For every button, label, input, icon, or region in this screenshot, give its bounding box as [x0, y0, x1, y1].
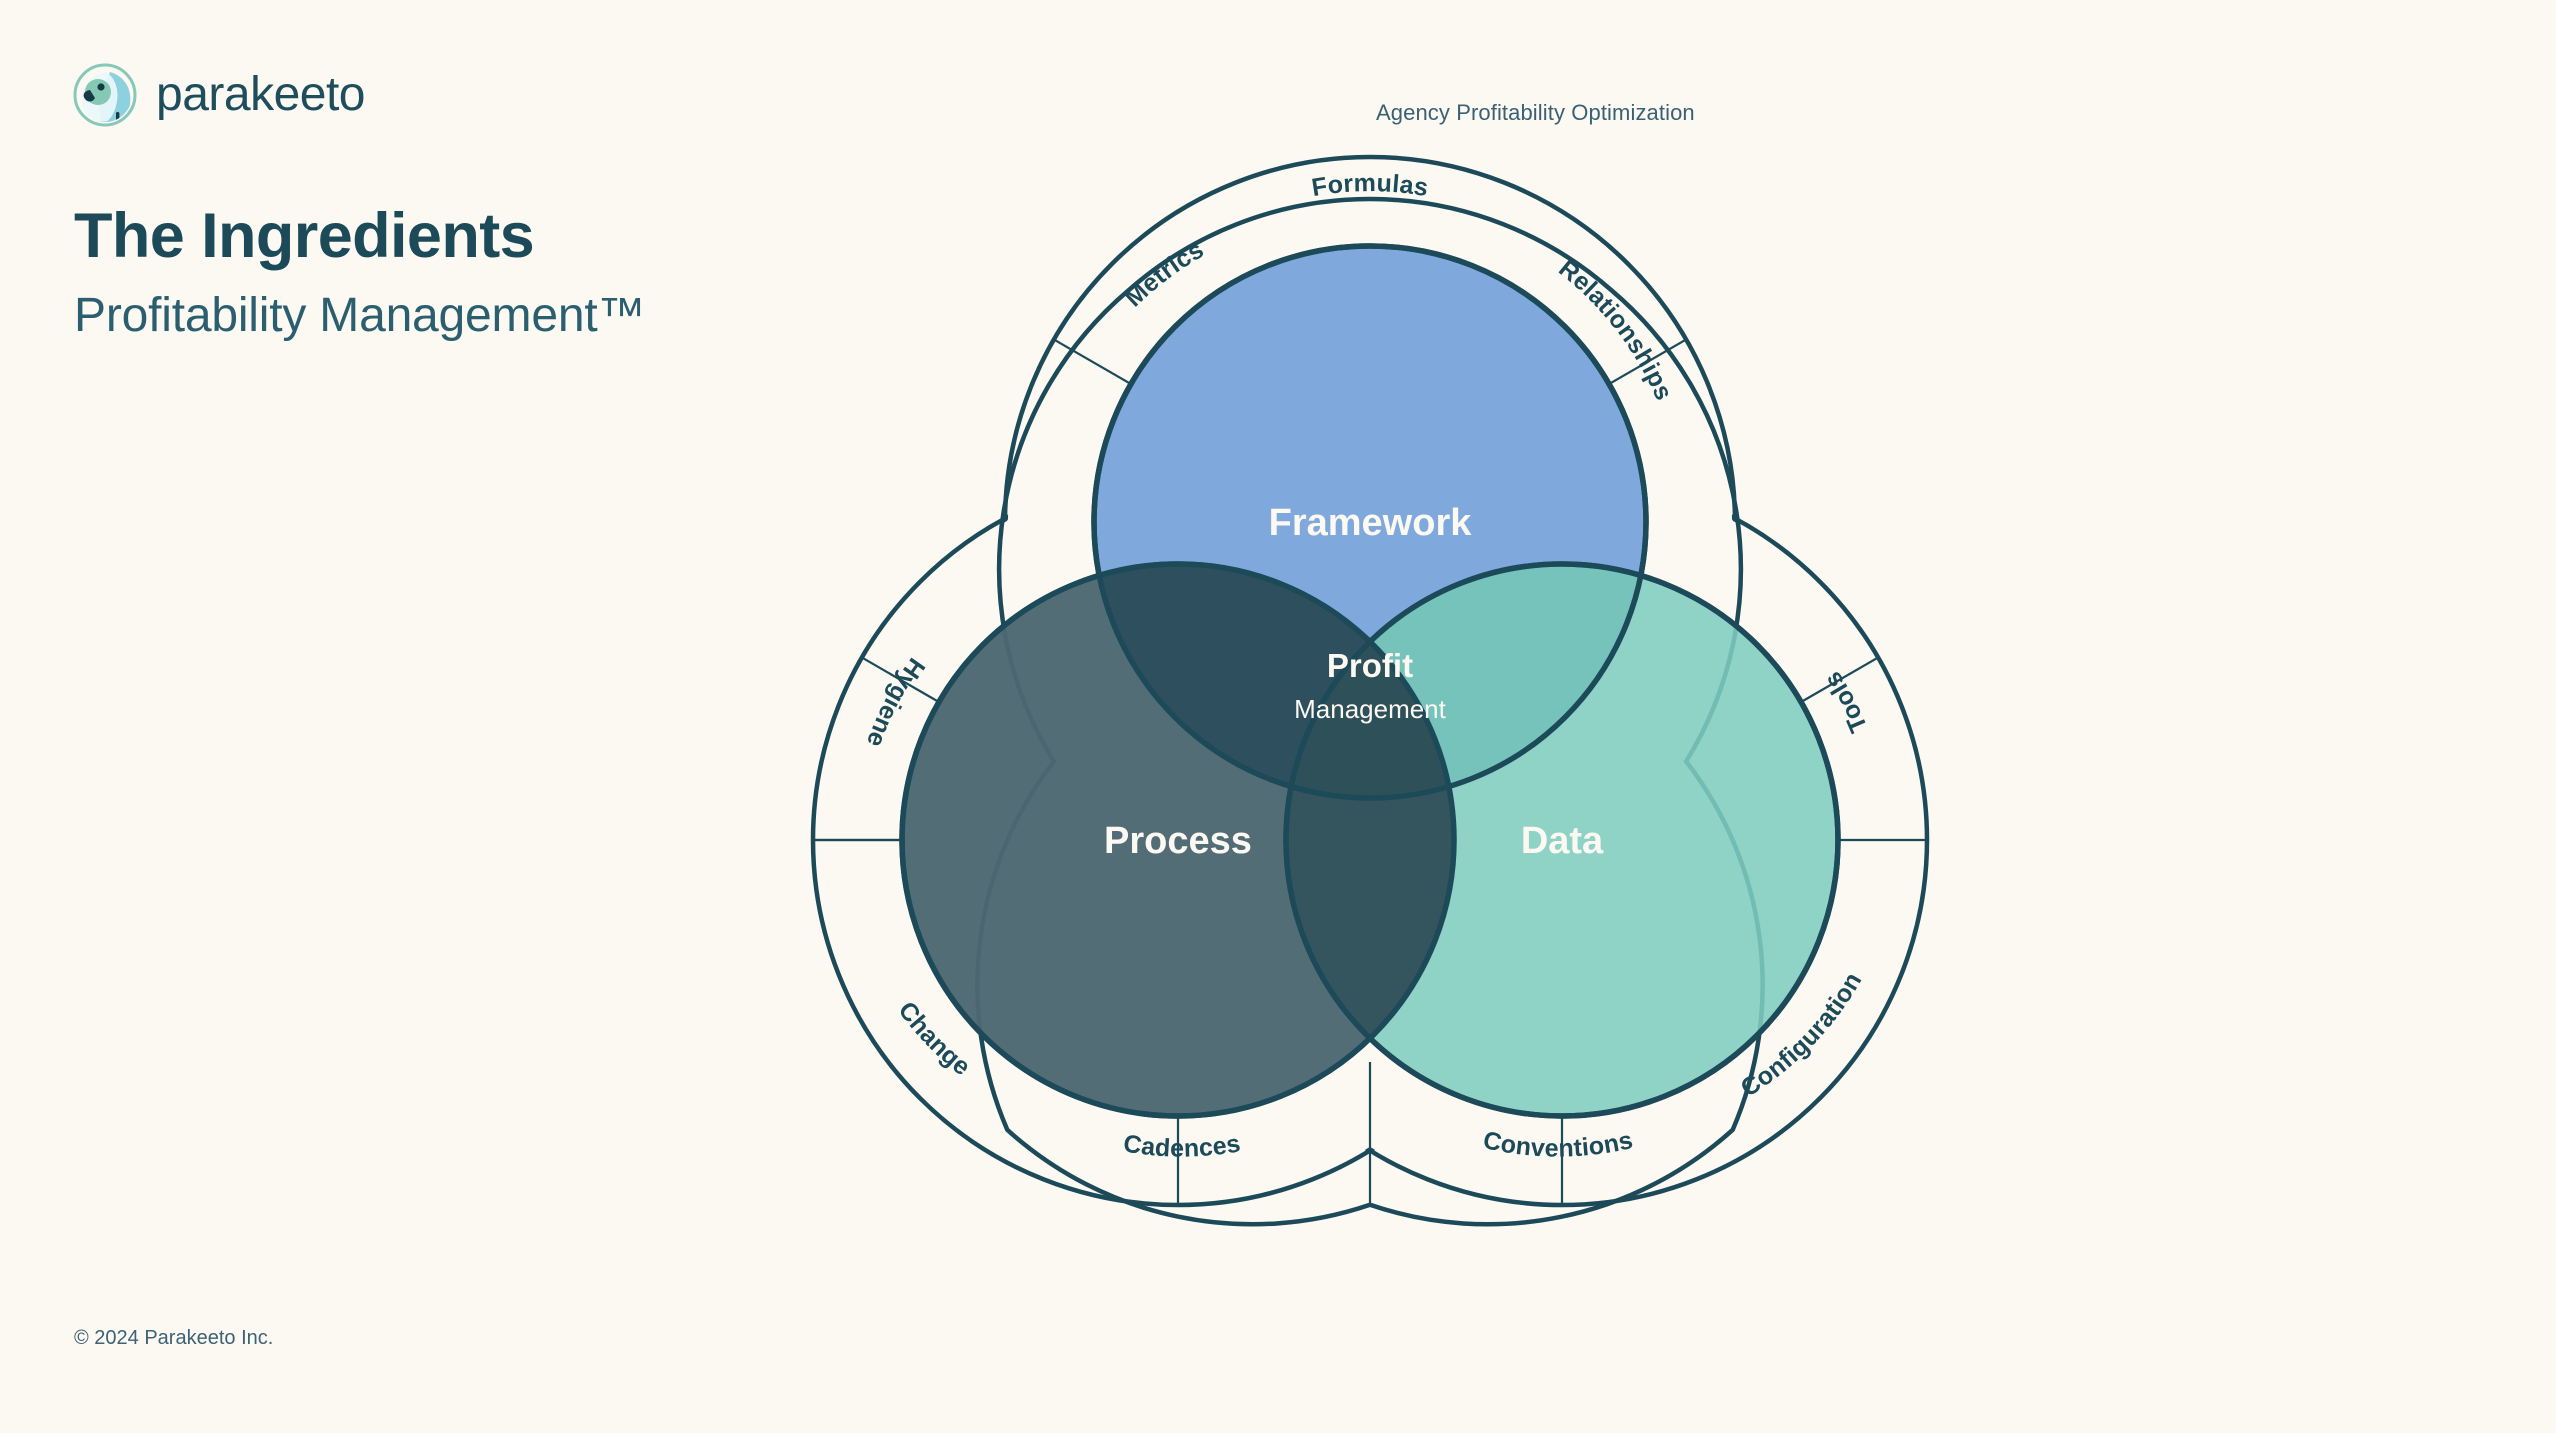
- page-title: The Ingredients: [74, 203, 534, 269]
- center-subtitle: Management: [1294, 694, 1447, 724]
- page-subtitle: Profitability Management™: [74, 290, 645, 343]
- circle-label-data: Data: [1521, 820, 1604, 862]
- copyright-notice: © 2024 Parakeeto Inc.: [74, 1327, 273, 1350]
- brand-tagline: Agency Profitability Optimization: [1376, 100, 1695, 126]
- brand-logo[interactable]: parakeeto: [72, 62, 365, 128]
- brand-wordmark: parakeeto: [156, 71, 365, 119]
- slide-canvas: parakeeto Agency Profitability Optimizat…: [0, 0, 2556, 1433]
- center-title: Profit: [1327, 647, 1413, 684]
- venn-diagram: Framework Process Data Profit Management…: [815, 190, 1925, 1250]
- circle-label-framework: Framework: [1269, 502, 1473, 544]
- parakeet-bird-icon: [72, 62, 138, 128]
- circle-label-process: Process: [1104, 820, 1252, 862]
